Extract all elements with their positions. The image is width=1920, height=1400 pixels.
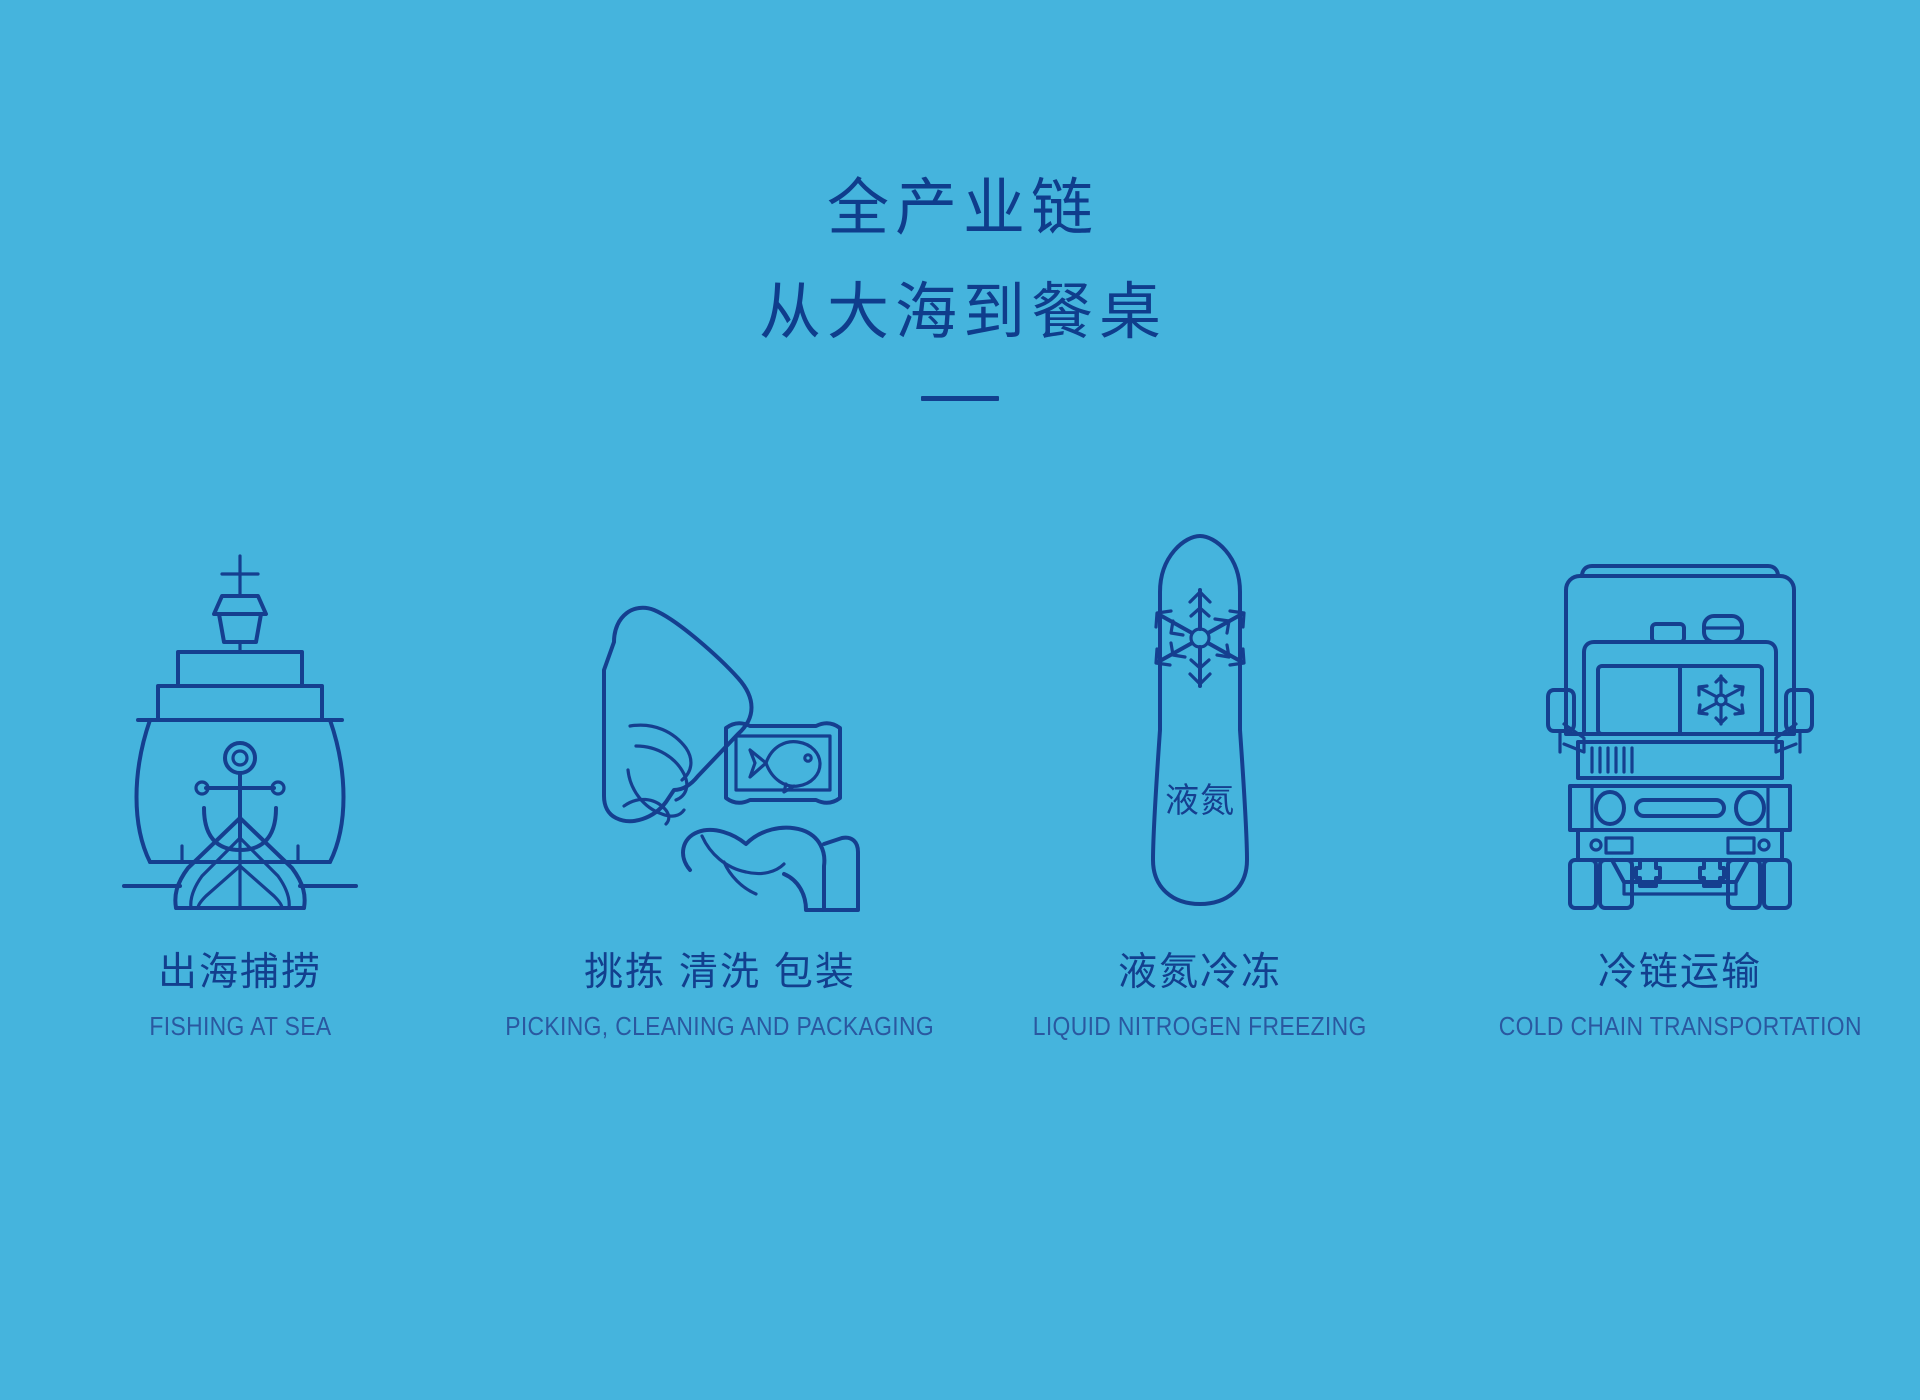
step-label-cn: 液氮冷冻: [1010, 952, 1389, 995]
step-fishing-at-sea[interactable]: 出海捕捞 FISHING AT SEA: [0, 520, 480, 1042]
step-label-en: LIQUID NITROGEN FREEZING: [1033, 1011, 1367, 1042]
header: 全产业链 从大海到餐桌: [0, 0, 1920, 401]
step-label-cn: 冷链运输: [1474, 952, 1887, 995]
step-label-en: COLD CHAIN TRANSPORTATION: [1498, 1011, 1861, 1042]
page-root: 全产业链 从大海到餐桌: [0, 0, 1920, 1400]
snowflake-icon: [1699, 676, 1743, 724]
step-picking-cleaning-packaging[interactable]: 挑拣 清洗 包装 PICKING, CLEANING AND PACKAGING: [480, 520, 960, 1042]
divider-wrap: [0, 396, 1920, 401]
step-labels: 液氮冷冻 LIQUID NITROGEN FREEZING: [1010, 952, 1389, 1042]
liquid-nitrogen-tank-icon: 液氮: [1115, 530, 1285, 910]
icon-box: 液氮: [1115, 520, 1285, 910]
tank-label: 液氮: [1165, 782, 1235, 820]
icon-box: [570, 520, 870, 910]
icon-box: [110, 520, 370, 910]
refrigerated-truck-icon: [1540, 538, 1820, 910]
page-title-line-1: 全产业链: [0, 178, 1920, 240]
step-labels: 出海捕捞 FISHING AT SEA: [137, 952, 344, 1042]
page-title-line-2: 从大海到餐桌: [0, 282, 1920, 344]
icon-box: [1540, 520, 1820, 910]
step-label-en: FISHING AT SEA: [149, 1011, 331, 1042]
step-labels: 挑拣 清洗 包装 PICKING, CLEANING AND PACKAGING: [476, 952, 963, 1042]
step-label-cn: 挑拣 清洗 包装: [476, 952, 963, 995]
step-labels: 冷链运输 COLD CHAIN TRANSPORTATION: [1474, 952, 1887, 1042]
step-cold-chain-transportation[interactable]: 冷链运输 COLD CHAIN TRANSPORTATION: [1440, 520, 1920, 1042]
step-label-en: PICKING, CLEANING AND PACKAGING: [506, 1011, 935, 1042]
step-label-cn: 出海捕捞: [137, 952, 344, 995]
snowflake-icon: [1156, 590, 1244, 686]
title-divider: [921, 396, 999, 401]
process-steps: 出海捕捞 FISHING AT SEA: [0, 520, 1920, 1042]
fishing-boat-with-anchor-icon: [110, 550, 370, 910]
step-liquid-nitrogen-freezing[interactable]: 液氮 液氮冷冻 LIQUID NITROGEN FREEZING: [960, 520, 1440, 1042]
hands-holding-packaged-fish-icon: [570, 580, 870, 910]
